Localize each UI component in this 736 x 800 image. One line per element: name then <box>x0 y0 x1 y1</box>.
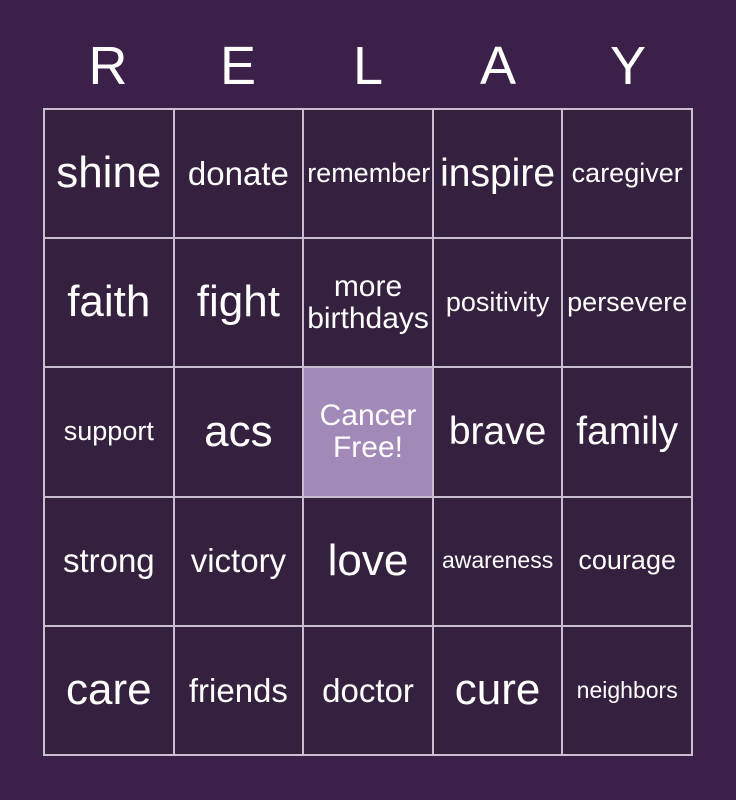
title-letter-5: Y <box>563 36 693 96</box>
bingo-cell-label: caregiver <box>566 160 688 188</box>
title-letter-1: R <box>43 36 173 96</box>
bingo-cell[interactable]: faith <box>45 239 175 368</box>
bingo-cell-label: love <box>307 539 429 584</box>
card-title: R E L A Y <box>43 36 693 96</box>
bingo-grid: shine donate remember inspire caregiver … <box>43 108 693 756</box>
bingo-cell-label: faith <box>48 280 170 325</box>
bingo-cell-label: courage <box>566 547 688 575</box>
bingo-cell-label: doctor <box>307 674 429 708</box>
title-letter-3: L <box>303 36 433 96</box>
bingo-cell[interactable]: support <box>45 368 175 497</box>
bingo-cell[interactable]: positivity <box>434 239 564 368</box>
bingo-cell[interactable]: doctor <box>304 627 434 756</box>
bingo-cell[interactable]: family <box>563 368 693 497</box>
bingo-cell-label: care <box>48 668 170 713</box>
bingo-cell[interactable]: friends <box>175 627 305 756</box>
title-letter-2: E <box>173 36 303 96</box>
bingo-cell-label: persevere <box>566 289 688 317</box>
bingo-cell-label: support <box>48 418 170 446</box>
bingo-cell[interactable]: more birthdays <box>304 239 434 368</box>
bingo-cell-label: family <box>566 412 688 452</box>
bingo-cell[interactable]: victory <box>175 498 305 627</box>
bingo-cell-free-space[interactable]: Cancer Free! <box>304 368 434 497</box>
bingo-cell-label: victory <box>178 544 300 578</box>
bingo-cell[interactable]: acs <box>175 368 305 497</box>
bingo-cell[interactable]: caregiver <box>563 110 693 239</box>
bingo-cell[interactable]: fight <box>175 239 305 368</box>
bingo-cell-label: donate <box>178 157 300 191</box>
bingo-cell[interactable]: care <box>45 627 175 756</box>
bingo-cell[interactable]: brave <box>434 368 564 497</box>
bingo-cell[interactable]: cure <box>434 627 564 756</box>
bingo-cell[interactable]: inspire <box>434 110 564 239</box>
bingo-cell-label: inspire <box>437 154 559 194</box>
bingo-cell[interactable]: persevere <box>563 239 693 368</box>
bingo-cell[interactable]: strong <box>45 498 175 627</box>
bingo-cell-label: brave <box>437 412 559 452</box>
bingo-cell[interactable]: awareness <box>434 498 564 627</box>
bingo-cell-label: neighbors <box>566 679 688 702</box>
bingo-card: R E L A Y shine donate remember inspire … <box>0 0 736 800</box>
bingo-cell[interactable]: donate <box>175 110 305 239</box>
bingo-cell-label: cure <box>437 668 559 713</box>
bingo-cell-label: positivity <box>437 289 559 317</box>
bingo-cell[interactable]: love <box>304 498 434 627</box>
bingo-cell-label: shine <box>48 151 170 196</box>
bingo-cell[interactable]: courage <box>563 498 693 627</box>
bingo-cell-label: acs <box>178 410 300 455</box>
bingo-cell[interactable]: remember <box>304 110 434 239</box>
bingo-cell[interactable]: shine <box>45 110 175 239</box>
bingo-cell-label: fight <box>178 280 300 325</box>
bingo-cell-label: strong <box>48 544 170 578</box>
bingo-cell-label: more birthdays <box>307 271 429 335</box>
bingo-cell-label: friends <box>178 674 300 708</box>
bingo-cell[interactable]: neighbors <box>563 627 693 756</box>
bingo-cell-label: awareness <box>437 549 559 572</box>
bingo-cell-label: Cancer Free! <box>307 400 429 464</box>
title-letter-4: A <box>433 36 563 96</box>
bingo-cell-label: remember <box>307 160 429 188</box>
